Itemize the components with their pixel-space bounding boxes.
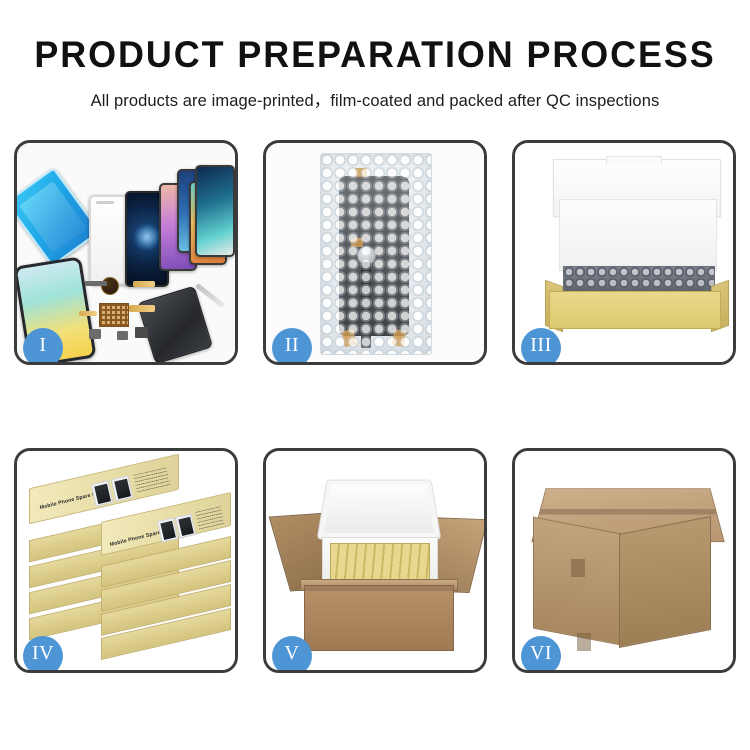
flex-cable-icon (361, 262, 371, 348)
flex-cable-icon (133, 281, 155, 287)
page-subtitle: All products are image-printed，film-coat… (0, 87, 750, 111)
process-steps-grid: I II (14, 140, 736, 673)
carton-front-icon (304, 585, 454, 651)
foam-sheet-icon (559, 199, 717, 271)
step-badge: I (23, 328, 63, 365)
tape-icon (355, 168, 367, 177)
process-step-card[interactable]: Mobile Phone Spare Parts Mobile Phone Sp… (14, 448, 238, 673)
small-part-icon (89, 329, 101, 339)
foam-cooler-lid-icon (317, 480, 442, 540)
page-title: PRODUCT PREPARATION PROCESS (11, 36, 739, 75)
carton-side-left-icon (533, 516, 621, 645)
phone-screen-teal-icon (195, 165, 235, 257)
screw-tray-icon (99, 303, 129, 327)
header: PRODUCT PREPARATION PROCESS All products… (0, 0, 750, 111)
step-badge: VI (521, 636, 561, 673)
process-step-card[interactable]: II (263, 140, 487, 365)
process-step-card[interactable]: III (512, 140, 736, 365)
step-badge: IV (23, 636, 63, 673)
chip-part-icon (85, 281, 107, 286)
speaker-part-icon (117, 331, 128, 340)
carton-tape-icon (571, 559, 585, 577)
product-preparation-infographic: PRODUCT PREPARATION PROCESS All products… (0, 0, 750, 750)
step-badge: II (272, 328, 312, 365)
process-step-card[interactable]: VI (512, 448, 736, 673)
camera-lens-part-icon (101, 277, 119, 295)
carton-tape-icon (577, 633, 591, 651)
tape-icon (392, 329, 407, 347)
step-badge: V (272, 636, 312, 673)
bubble-wrap-bag-icon (320, 153, 432, 355)
process-step-card[interactable]: I (14, 140, 238, 365)
flex-cable-icon (79, 311, 97, 316)
tape-icon (351, 238, 363, 247)
phone-adhesive-film-icon (14, 167, 101, 267)
step-badge: III (521, 328, 561, 365)
flex-cable-icon (129, 305, 155, 312)
process-step-card[interactable]: V (263, 448, 487, 673)
box-front-icon (549, 291, 721, 329)
phone-back-housing-icon (137, 286, 213, 365)
carton-side-right-icon (619, 516, 711, 648)
camera-module-icon (135, 327, 148, 338)
